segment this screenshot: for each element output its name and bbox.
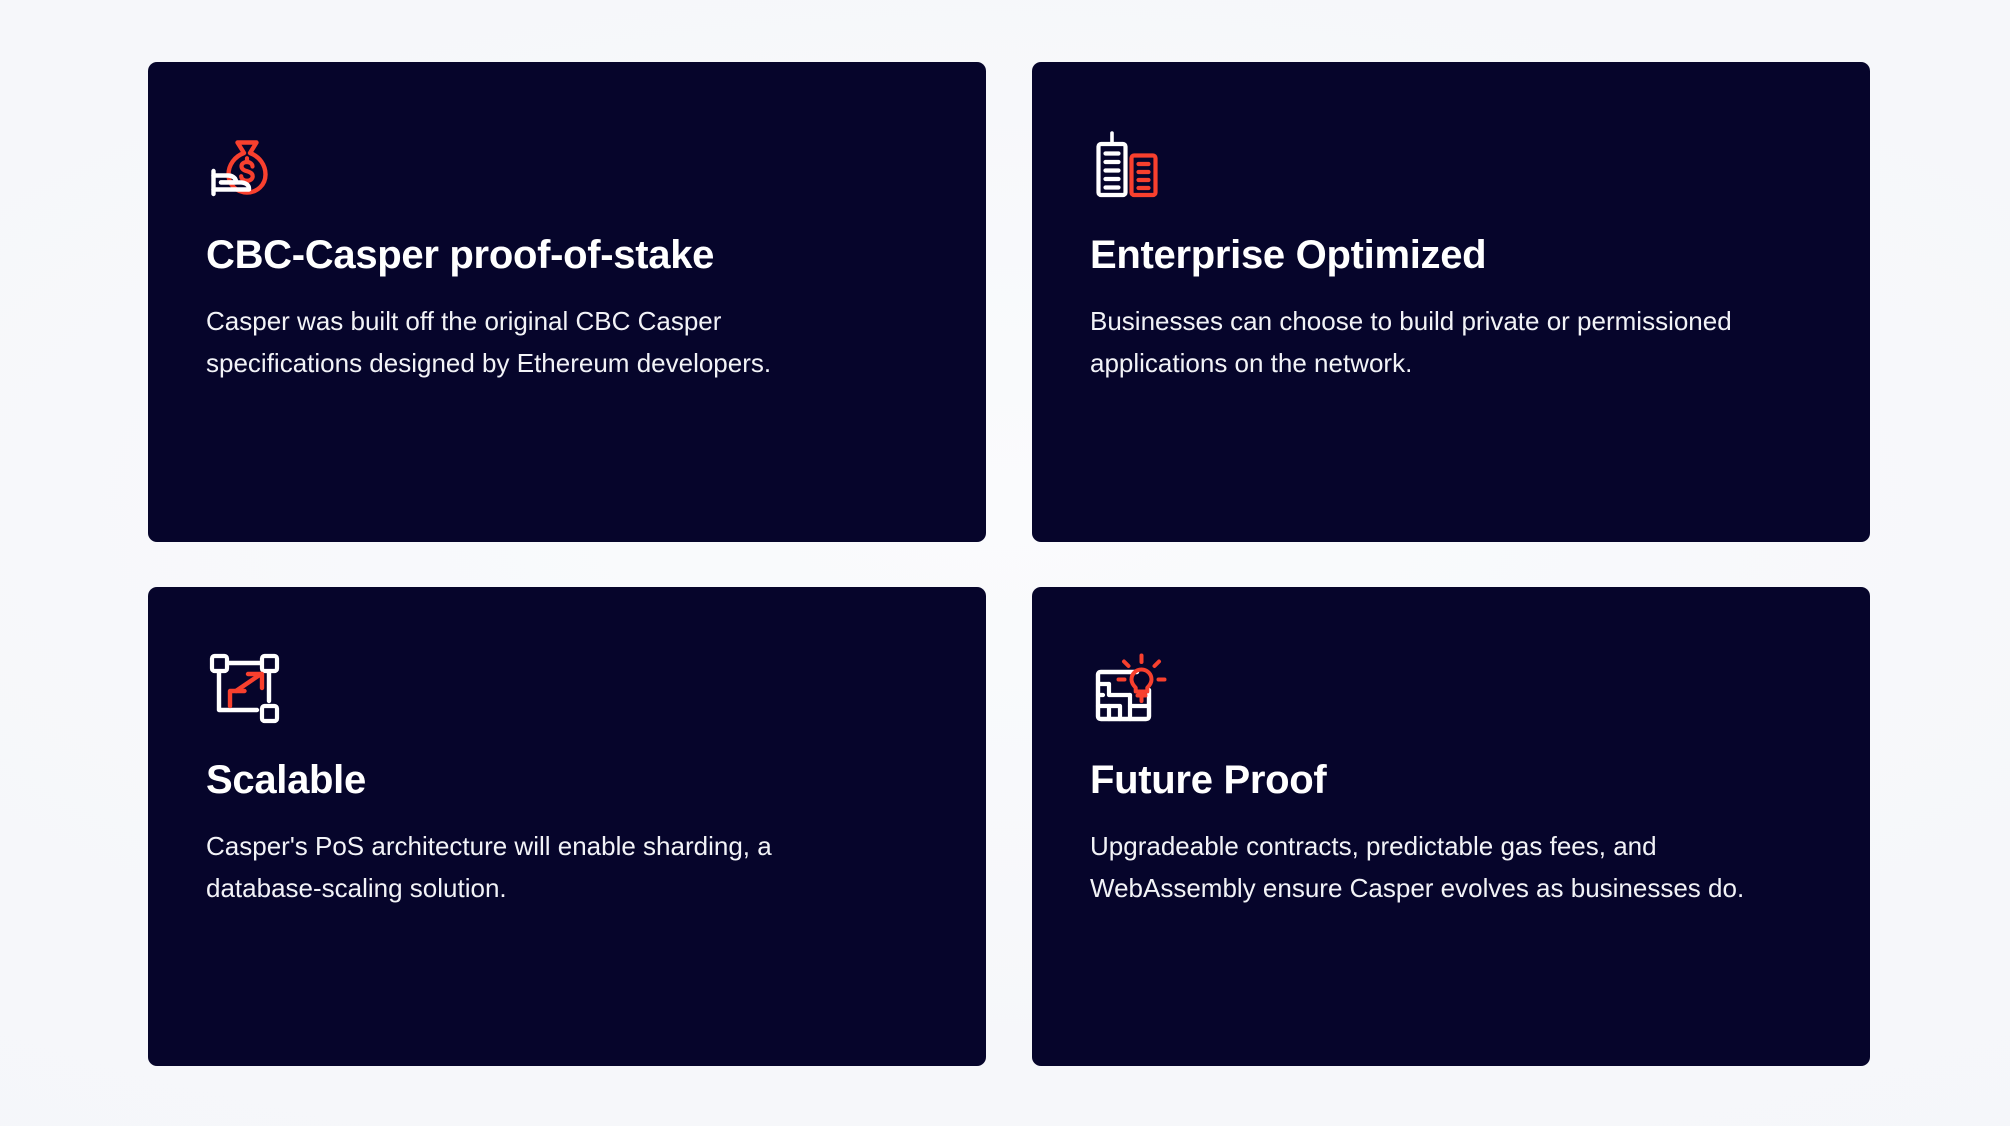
card-title: Future Proof: [1090, 758, 1812, 803]
scale-resize-arrow-icon: [206, 650, 284, 728]
features-page: CBC-Casper proof-of-stake Casper was bui…: [0, 0, 2010, 1126]
card-description: Businesses can choose to build private o…: [1090, 300, 1780, 384]
feature-card-scalable[interactable]: Scalable Casper's PoS architecture will …: [148, 587, 986, 1066]
feature-card-future-proof[interactable]: Future Proof Upgradeable contracts, pred…: [1032, 587, 1870, 1066]
feature-card-cbc-casper[interactable]: CBC-Casper proof-of-stake Casper was bui…: [148, 62, 986, 542]
card-description: Casper's PoS architecture will enable sh…: [206, 825, 846, 909]
card-title: CBC-Casper proof-of-stake: [206, 233, 928, 278]
card-title: Enterprise Optimized: [1090, 233, 1812, 278]
money-bag-icon: [206, 125, 284, 203]
feature-card-grid: CBC-Casper proof-of-stake Casper was bui…: [148, 62, 1870, 1066]
card-description: Casper was built off the original CBC Ca…: [206, 300, 846, 384]
lightbulb-circuit-icon: [1090, 650, 1168, 728]
card-description: Upgradeable contracts, predictable gas f…: [1090, 825, 1780, 909]
office-buildings-icon: [1090, 125, 1168, 203]
feature-card-enterprise-optimized[interactable]: Enterprise Optimized Businesses can choo…: [1032, 62, 1870, 542]
card-title: Scalable: [206, 758, 928, 803]
